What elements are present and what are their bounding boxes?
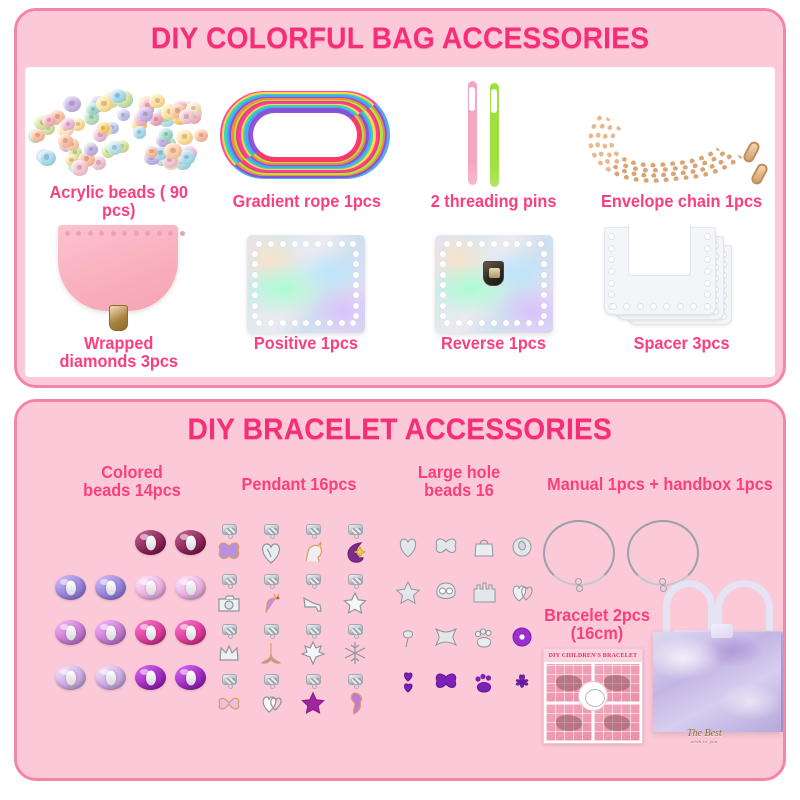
punch-hole bbox=[440, 313, 446, 319]
large-hole-bead bbox=[431, 581, 461, 607]
label-cell: Wrapped diamonds 3pcs bbox=[25, 333, 213, 377]
drop-link bbox=[575, 578, 582, 585]
label-spacer: Spacer 3pcs bbox=[633, 335, 729, 353]
large-hole-bead bbox=[393, 536, 423, 562]
spacer-hole bbox=[704, 245, 711, 252]
label-gradient-rope: Gradient rope 1pcs bbox=[232, 193, 380, 211]
bracelet-hoop bbox=[627, 520, 699, 586]
acrylic-beads-art bbox=[19, 77, 219, 189]
handbox-front: The Best wish to you bbox=[653, 632, 781, 732]
colored-bead bbox=[175, 530, 206, 555]
pendant-ring bbox=[270, 534, 275, 539]
flap-hole bbox=[88, 231, 93, 236]
punch-hole bbox=[353, 303, 359, 309]
colored-beads-group bbox=[49, 528, 219, 718]
punch-hole bbox=[268, 241, 274, 247]
punch-hole bbox=[339, 320, 345, 326]
label-cell: Acrylic beads ( 90 pcs) bbox=[25, 189, 213, 215]
holo-reverse-art bbox=[435, 235, 553, 333]
punch-hole bbox=[541, 282, 547, 288]
bead bbox=[38, 150, 56, 166]
deer-icon bbox=[258, 590, 284, 621]
maple-leaf-icon bbox=[300, 640, 326, 671]
panel-bag-body: Acrylic beads ( 90 pcs) Gradient rope 1p… bbox=[25, 67, 775, 377]
punch-hole bbox=[491, 320, 497, 326]
bead bbox=[176, 130, 193, 145]
pendant-charm bbox=[255, 574, 287, 620]
punch-hole bbox=[456, 241, 462, 247]
butterfly-icon bbox=[432, 535, 460, 564]
holo-plate-reverse-icon bbox=[435, 235, 553, 333]
pendant-ring bbox=[354, 534, 359, 539]
flap-hole bbox=[157, 231, 162, 236]
bracelet-drop-charm bbox=[575, 578, 584, 596]
snowflake-icon bbox=[342, 640, 368, 671]
large-hole-bead bbox=[507, 581, 537, 607]
colored-bead bbox=[175, 575, 206, 600]
punch-hole bbox=[440, 303, 446, 309]
large-hole-bead bbox=[431, 626, 461, 652]
spacer-hole bbox=[608, 268, 615, 275]
punch-hole bbox=[479, 241, 485, 247]
punch-hole bbox=[538, 241, 544, 247]
label-reverse: Reverse 1pcs bbox=[441, 335, 546, 353]
item-acrylic-beads bbox=[25, 67, 213, 189]
pendant-charm bbox=[297, 624, 329, 670]
punch-hole bbox=[252, 303, 258, 309]
large-hole-beads-group bbox=[393, 536, 543, 716]
pendant-ring bbox=[228, 534, 233, 539]
label-manual-handbox: Manual 1pcs + handbox 1pcs bbox=[533, 476, 786, 494]
pendant-charm bbox=[213, 574, 245, 620]
high-heel-icon bbox=[300, 590, 326, 621]
pendant-charm bbox=[297, 674, 329, 720]
punch-hole bbox=[526, 320, 532, 326]
punch-hole bbox=[440, 272, 446, 278]
bead bbox=[107, 141, 123, 155]
heart-filigree-icon bbox=[258, 540, 284, 571]
flap-hole bbox=[65, 231, 70, 236]
bead bbox=[63, 96, 81, 112]
camera-icon bbox=[216, 590, 242, 621]
punch-hole bbox=[503, 241, 509, 247]
pendant-charm bbox=[213, 524, 245, 570]
bag-row-2-art bbox=[25, 215, 775, 333]
threading-needle-icon bbox=[468, 81, 477, 185]
panel-bracelet-accessories: DIY BRACELET ACCESSORIES Bracelet 2pcs (… bbox=[14, 399, 786, 781]
item-threading-pins bbox=[400, 67, 588, 189]
paw-purple-icon bbox=[470, 670, 498, 699]
colored-bead bbox=[175, 665, 206, 690]
unicorn-icon bbox=[300, 540, 326, 571]
colored-bead bbox=[135, 575, 166, 600]
pendant-charm bbox=[213, 624, 245, 670]
flower-purple-icon bbox=[508, 625, 536, 654]
chain-icon bbox=[574, 79, 786, 189]
pendant-ring bbox=[228, 584, 233, 589]
label-acrylic-beads: Acrylic beads ( 90 pcs) bbox=[32, 184, 206, 220]
punch-hole bbox=[440, 251, 446, 257]
handbox-handle-left bbox=[663, 580, 715, 636]
flap-hole bbox=[76, 231, 81, 236]
chain-clasp-icon bbox=[749, 162, 769, 187]
pendant-charm bbox=[339, 574, 371, 620]
large-hole-bead bbox=[469, 581, 499, 607]
bag-row-1-labels: Acrylic beads ( 90 pcs) Gradient rope 1p… bbox=[25, 189, 775, 215]
holo-positive-art bbox=[247, 235, 365, 333]
castle-icon bbox=[470, 580, 498, 609]
holo-plate-positive-icon bbox=[247, 235, 365, 333]
flap-body bbox=[58, 225, 178, 311]
label-cell: Colored beads 14pcs bbox=[47, 464, 217, 500]
punch-hole bbox=[252, 272, 258, 278]
large-hole-bead bbox=[507, 671, 537, 697]
label-threading-pins: 2 threading pins bbox=[431, 193, 557, 211]
pendant-ring bbox=[312, 634, 317, 639]
mermaid-tail-icon bbox=[258, 640, 284, 671]
paw-icon bbox=[470, 625, 498, 654]
spacer-hole bbox=[650, 303, 657, 310]
handbox-brand: The Best wish to you bbox=[687, 728, 722, 744]
label-wrapped-diamonds: Wrapped diamonds 3pcs bbox=[60, 335, 178, 371]
item-gradient-rope bbox=[213, 67, 401, 189]
large-hole-bead bbox=[393, 581, 423, 607]
item-reverse-plate bbox=[400, 215, 588, 333]
manual-step bbox=[594, 704, 640, 742]
label-bracelet: Bracelet 2pcs (16cm) bbox=[541, 606, 653, 643]
pendant-charm bbox=[339, 674, 371, 720]
label-cell: Gradient rope 1pcs bbox=[213, 189, 401, 215]
colored-bead bbox=[55, 665, 86, 690]
panel-bag-title: DIY COLORFUL BAG ACCESSORIES bbox=[151, 22, 649, 56]
pendant-charm bbox=[255, 524, 287, 570]
label-large-hole-beads: Large hole beads 16 bbox=[388, 464, 529, 500]
label-cell: Large hole beads 16 bbox=[383, 464, 535, 500]
heart-icon bbox=[394, 535, 422, 564]
bead bbox=[110, 89, 125, 103]
spacer-hole bbox=[704, 280, 711, 287]
handbox-ribbon-knot bbox=[711, 624, 733, 638]
flap-lock-icon bbox=[109, 305, 128, 331]
clover-icon bbox=[394, 625, 422, 654]
label-cell: 2 threading pins bbox=[400, 189, 588, 215]
product-infographic: DIY COLORFUL BAG ACCESSORIES bbox=[0, 0, 800, 800]
spacer-art bbox=[594, 221, 769, 333]
large-hole-bead bbox=[469, 536, 499, 562]
colored-bead bbox=[95, 575, 126, 600]
large-hole-bead bbox=[507, 536, 537, 562]
punch-hole bbox=[541, 313, 547, 319]
punch-hole bbox=[315, 320, 321, 326]
rope-loop bbox=[248, 108, 362, 162]
bag-row-1-art bbox=[25, 67, 775, 189]
large-hole-bead bbox=[431, 536, 461, 562]
flap-hole bbox=[99, 231, 104, 236]
threading-pins-art bbox=[434, 77, 554, 189]
punch-hole bbox=[327, 241, 333, 247]
colored-bead bbox=[135, 530, 166, 555]
knot-x-icon bbox=[432, 625, 460, 654]
bead bbox=[117, 109, 130, 121]
spacer-plate bbox=[604, 227, 716, 315]
crown-icon bbox=[216, 640, 242, 671]
label-cell: Manual 1pcs + handbox 1pcs bbox=[523, 464, 786, 494]
item-positive-plate bbox=[213, 215, 401, 333]
pendant-ring bbox=[270, 684, 275, 689]
drop-link bbox=[576, 585, 583, 592]
bead bbox=[42, 114, 56, 127]
holo-surface bbox=[247, 235, 365, 333]
punch-hole bbox=[292, 241, 298, 247]
handbox-brand-sub: wish to you bbox=[687, 739, 722, 744]
pendant-charm bbox=[339, 624, 371, 670]
bead-pile-icon bbox=[19, 77, 219, 189]
pendant-ring bbox=[312, 584, 317, 589]
punch-hole bbox=[315, 241, 321, 247]
bracelet bbox=[543, 520, 615, 598]
punch-hole bbox=[526, 241, 532, 247]
punch-hole bbox=[538, 320, 544, 326]
pendant-ring bbox=[270, 584, 275, 589]
punch-hole bbox=[440, 282, 446, 288]
punch-hole bbox=[479, 320, 485, 326]
handbox-brand-text: The Best bbox=[687, 728, 722, 739]
punch-hole bbox=[541, 251, 547, 257]
spacer-hole bbox=[637, 303, 644, 310]
punch-hole bbox=[280, 320, 286, 326]
flap-hole bbox=[145, 231, 150, 236]
large-hole-bead bbox=[469, 626, 499, 652]
spacer-hole bbox=[610, 303, 617, 310]
colored-bead bbox=[55, 620, 86, 645]
spacer-hole bbox=[608, 280, 615, 287]
bead bbox=[84, 143, 98, 156]
punch-hole bbox=[327, 320, 333, 326]
pendant-ring bbox=[228, 634, 233, 639]
punch-hole bbox=[491, 241, 497, 247]
bead bbox=[164, 143, 181, 159]
pendant-charm bbox=[297, 524, 329, 570]
label-colored-beads: Colored beads 14pcs bbox=[53, 464, 211, 500]
colored-bead bbox=[135, 665, 166, 690]
pendant-charm bbox=[213, 674, 245, 720]
panel-bracelet-header: DIY BRACELET ACCESSORIES bbox=[17, 402, 783, 458]
manual-badge bbox=[578, 681, 608, 711]
large-hole-bead bbox=[393, 671, 423, 697]
punch-hole bbox=[456, 320, 462, 326]
flap-hole bbox=[134, 231, 139, 236]
mermaid-icon bbox=[342, 690, 368, 721]
punch-hole bbox=[353, 272, 359, 278]
purple-star-icon bbox=[300, 690, 326, 721]
colored-bead bbox=[55, 575, 86, 600]
panel-bag-accessories: DIY COLORFUL BAG ACCESSORIES bbox=[14, 8, 786, 388]
colored-bead bbox=[175, 620, 206, 645]
colored-bead bbox=[95, 620, 126, 645]
manual-title: DIY CHILDREN'S BRACELET bbox=[544, 649, 642, 662]
label-cell: Pendant 16pcs bbox=[211, 464, 387, 494]
star-outline-icon bbox=[342, 590, 368, 621]
punch-hole bbox=[503, 320, 509, 326]
punch-hole bbox=[444, 320, 450, 326]
flap-holes bbox=[65, 231, 185, 236]
punch-hole bbox=[339, 241, 345, 247]
pendants-group bbox=[213, 524, 381, 720]
bead bbox=[194, 129, 208, 142]
bracelet-hoop bbox=[543, 520, 615, 586]
flap-hole bbox=[122, 231, 127, 236]
spacer-hole bbox=[704, 233, 711, 240]
star-icon bbox=[394, 580, 422, 609]
pendant-charm bbox=[297, 574, 329, 620]
spacer-hole bbox=[704, 303, 711, 310]
label-pendant: Pendant 16pcs bbox=[217, 476, 381, 494]
punch-hole bbox=[280, 241, 286, 247]
label-cell: Reverse 1pcs bbox=[400, 333, 588, 377]
pendant-ring bbox=[354, 634, 359, 639]
pendant-ring bbox=[354, 584, 359, 589]
spacer-hole bbox=[677, 303, 684, 310]
handbag-icon bbox=[470, 535, 498, 564]
pendant-charm bbox=[339, 524, 371, 570]
item-envelope-chain bbox=[588, 67, 776, 189]
manual-booklet: DIY CHILDREN'S BRACELET bbox=[543, 648, 643, 744]
bow-icon bbox=[216, 690, 242, 721]
panel-bracelet-title: DIY BRACELET ACCESSORIES bbox=[188, 413, 612, 447]
rope-coil-icon bbox=[214, 83, 399, 189]
gradient-rope-art bbox=[214, 83, 399, 189]
butterfly-icon bbox=[216, 540, 242, 571]
double-heart-icon bbox=[508, 580, 536, 609]
pendant-charm bbox=[255, 674, 287, 720]
punch-hole bbox=[268, 320, 274, 326]
flap-hole bbox=[180, 231, 185, 236]
punch-hole bbox=[444, 241, 450, 247]
envelope-chain-art bbox=[574, 79, 786, 189]
spacer-hole bbox=[608, 233, 615, 240]
punch-hole bbox=[541, 303, 547, 309]
label-cell: Spacer 3pcs bbox=[588, 333, 776, 377]
butterfly-purple-icon bbox=[432, 670, 460, 699]
spacer-plates-icon bbox=[594, 221, 769, 333]
punch-hole bbox=[541, 272, 547, 278]
needles-icon bbox=[434, 77, 554, 189]
large-hole-bead bbox=[431, 671, 461, 697]
label-positive: Positive 1pcs bbox=[254, 335, 358, 353]
threading-needle-icon bbox=[490, 83, 499, 187]
bead bbox=[71, 160, 88, 175]
handbox-side bbox=[781, 632, 786, 732]
colored-bead bbox=[95, 665, 126, 690]
handbox-gift-bag: The Best wish to you bbox=[653, 580, 786, 732]
spacer-hole bbox=[608, 245, 615, 252]
bracelet-labels: Colored beads 14pcs Pendant 16pcs Large … bbox=[25, 464, 786, 510]
flap-hole bbox=[111, 231, 116, 236]
pendant-ring bbox=[312, 684, 317, 689]
pendant-ring bbox=[270, 634, 275, 639]
large-hole-bead bbox=[469, 671, 499, 697]
bead bbox=[30, 129, 45, 143]
plate-lock-icon bbox=[483, 261, 504, 286]
label-cell: Positive 1pcs bbox=[213, 333, 401, 377]
pendant-ring bbox=[354, 684, 359, 689]
label-cell: Envelope chain 1pcs bbox=[588, 189, 776, 215]
item-wrapped-diamonds bbox=[25, 215, 213, 333]
panel-bag-header: DIY COLORFUL BAG ACCESSORIES bbox=[17, 11, 783, 67]
pendant-charm bbox=[255, 624, 287, 670]
double-heart-icon bbox=[258, 690, 284, 721]
hearts-purple-icon bbox=[394, 670, 422, 699]
spacer-hole bbox=[704, 268, 711, 275]
colored-bead bbox=[135, 620, 166, 645]
pendant-ring bbox=[228, 684, 233, 689]
pendant-ring bbox=[312, 534, 317, 539]
large-hole-bead bbox=[393, 626, 423, 652]
rose-icon bbox=[508, 535, 536, 564]
bag-row-2-labels: Wrapped diamonds 3pcs Positive 1pcs Reve… bbox=[25, 333, 775, 377]
owl-icon bbox=[432, 580, 460, 609]
bag-flap-icon bbox=[53, 221, 185, 333]
crescent-moon-icon bbox=[342, 540, 368, 571]
bead bbox=[133, 126, 146, 138]
clover-purple-icon bbox=[508, 670, 536, 699]
wrapped-flap-art bbox=[53, 221, 185, 333]
spacer-cutout bbox=[628, 225, 691, 276]
item-spacer bbox=[588, 215, 776, 333]
flap-hole bbox=[168, 231, 173, 236]
label-envelope-chain: Envelope chain 1pcs bbox=[601, 193, 762, 211]
bead bbox=[159, 128, 173, 141]
large-hole-bead bbox=[507, 626, 537, 652]
punch-hole bbox=[292, 320, 298, 326]
